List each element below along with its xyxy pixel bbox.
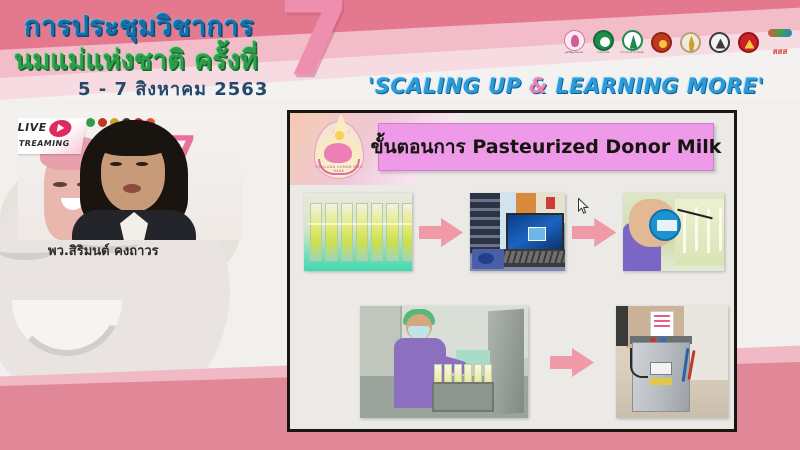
conference-tagline: 'SCALING UP & LEARNING MORE' bbox=[368, 74, 764, 98]
arrow-right-2-icon bbox=[572, 217, 616, 247]
live-streaming-badge: LIVE STREAMING bbox=[18, 118, 87, 154]
play-icon bbox=[48, 120, 73, 137]
logo-caption: กรมอนามัย bbox=[597, 52, 610, 55]
logo-caption: มูลนิธิศูนย์นมแม่ bbox=[565, 52, 583, 55]
edition-number: 7 bbox=[278, 0, 350, 90]
tagline-part-open: 'SCALING UP bbox=[368, 74, 529, 98]
process-row-2 bbox=[360, 306, 730, 418]
live-label: LIVE bbox=[18, 121, 48, 134]
logo-caption: กระทรวงสาธารณสุข bbox=[620, 52, 643, 55]
arrow-right-1-icon bbox=[419, 217, 463, 247]
organizer-logo-row: มูลนิธิศูนย์นมแม่ กรมอนามัย กระทรวงสาธาร… bbox=[562, 27, 795, 57]
photo-hand-thermometer bbox=[623, 193, 724, 271]
milk-bank-logo-caption: THAILAND HUMAN MILK BANK bbox=[309, 165, 369, 187]
slide-title-text: ขั้นตอนการ Pasteurized Donor Milk bbox=[371, 132, 722, 162]
slide-stage: การประชุมวิชาการ นมแม่แห่งชาติ ครั้งที่ … bbox=[0, 0, 800, 450]
ministry-of-public-health-logo: กรมอนามัย bbox=[591, 27, 615, 57]
conference-header: การประชุมวิชาการ นมแม่แห่งชาติ ครั้งที่ … bbox=[0, 0, 800, 100]
photo-milk-bottles-rack bbox=[304, 193, 412, 271]
slide-title-banner: ขั้นตอนการ Pasteurized Donor Milk bbox=[378, 123, 714, 171]
medical-association-logo bbox=[736, 27, 760, 57]
speaker-name: พว.สิริมนต์ คงถาวร bbox=[48, 240, 268, 261]
photo-laptop-workstation bbox=[470, 193, 565, 271]
logo-caption: สสส bbox=[773, 48, 788, 56]
thaihealth-sss-logo: สสส bbox=[765, 27, 795, 57]
presentation-slide: THAILAND HUMAN MILK BANK ขั้นตอนการ Past… bbox=[287, 110, 737, 432]
process-row-1 bbox=[304, 193, 724, 271]
arrow-right-3-icon bbox=[550, 347, 594, 377]
live-stream-video[interactable]: การประชุมวิชาการ นมแม่แห่งชาติ ครั้งที่ … bbox=[18, 112, 242, 240]
department-of-health-logo: กระทรวงสาธารณสุข bbox=[620, 27, 644, 57]
photo-pasteurizer-machine bbox=[616, 306, 728, 418]
conference-date: 5 - 7 สิงหาคม 2563 bbox=[78, 74, 268, 100]
royal-patronage-logo: มูลนิธิศูนย์นมแม่ bbox=[562, 27, 586, 57]
nursing-council-logo bbox=[707, 27, 731, 57]
tagline-part-close: LEARNING MORE' bbox=[548, 74, 765, 98]
human-milk-bank-logo: THAILAND HUMAN MILK BANK bbox=[306, 119, 374, 189]
tagline-ampersand: & bbox=[529, 74, 548, 98]
streaming-label: STREAMING bbox=[18, 139, 70, 148]
speaker-webcam-figure bbox=[80, 120, 188, 240]
royal-college-logo bbox=[649, 27, 673, 57]
photo-nurse-pasteurizing bbox=[360, 306, 528, 418]
thai-pediatric-society-logo bbox=[678, 27, 702, 57]
